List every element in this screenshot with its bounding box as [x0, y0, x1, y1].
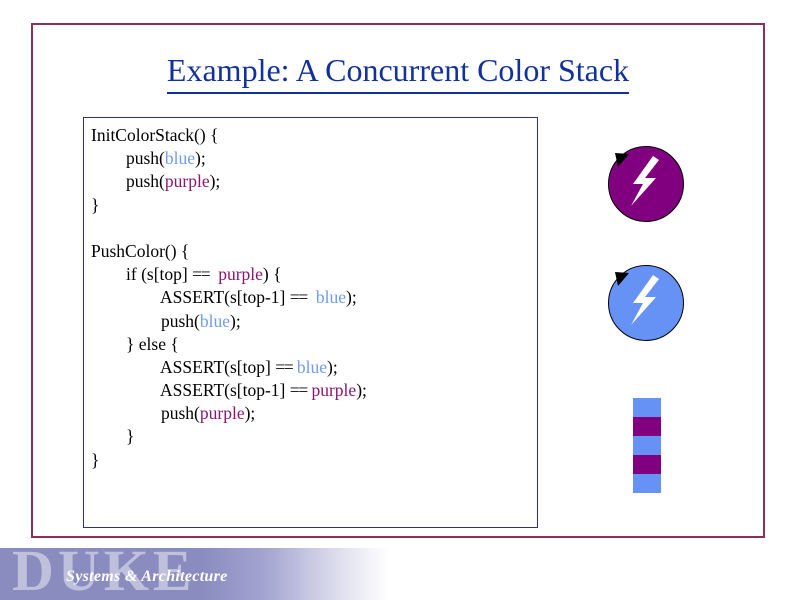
code-token: );: [195, 148, 206, 168]
thread-token-purple[interactable]: [608, 146, 684, 222]
code-line: push(blue);: [91, 310, 537, 333]
code-token: [209, 264, 218, 284]
code-line: ASSERT(s[top-1] == blue);: [91, 286, 537, 309]
code-line: if (s[top] == purple) {: [91, 263, 537, 286]
code-token-blue: blue: [297, 357, 327, 377]
code-line: }: [91, 449, 537, 472]
code-token: push(: [126, 171, 165, 191]
code-token: ASSERT(s[top-1]: [160, 380, 290, 400]
code-token: }: [126, 426, 134, 446]
page-title-text: Example: A Concurrent Color Stack: [167, 52, 629, 94]
code-listing-box: InitColorStack() { push(blue); push(purp…: [83, 117, 538, 528]
code-token: );: [230, 311, 241, 331]
code-token-blue: blue: [200, 311, 230, 331]
footer-tagline: Systems & Architecture: [66, 568, 228, 586]
code-token: );: [346, 287, 357, 307]
code-indent: [91, 264, 126, 284]
code-token: } else {: [126, 334, 179, 354]
color-stack-cell-purple: [633, 417, 661, 436]
rotation-arrow-icon: [615, 272, 629, 286]
code-indent: [91, 287, 160, 307]
code-token-purple: purple: [218, 264, 263, 284]
code-line: push(purple);: [91, 170, 537, 193]
code-indent: [91, 311, 161, 331]
code-line: InitColorStack() {: [91, 124, 537, 147]
rotation-arrow-icon: [615, 153, 629, 167]
code-indent: [91, 357, 160, 377]
code-token-blue: blue: [165, 148, 195, 168]
code-line: PushColor() {: [91, 240, 537, 263]
code-token-purple: purple: [311, 380, 356, 400]
code-line: ASSERT(s[top-1] == purple);: [91, 379, 537, 402]
color-stack-cell-blue: [633, 398, 661, 417]
color-stack-cell-blue: [633, 474, 661, 493]
code-token: ASSERT(s[top]: [160, 357, 275, 377]
code-line: }: [91, 425, 537, 448]
code-token: push(: [161, 403, 200, 423]
code-token: }: [91, 195, 99, 215]
lightning-bolt-icon: [631, 275, 659, 325]
code-token: );: [245, 403, 256, 423]
code-token-equals: ==: [192, 264, 209, 284]
code-token: push(: [161, 311, 200, 331]
code-token: );: [356, 380, 367, 400]
code-token: PushColor() {: [91, 241, 189, 261]
code-line: push(purple);: [91, 402, 537, 425]
code-token: }: [91, 450, 99, 470]
code-token-blue: blue: [316, 287, 346, 307]
code-token: push(: [126, 148, 165, 168]
code-token-equals: ==: [275, 357, 292, 377]
code-token: );: [327, 357, 338, 377]
code-indent: [91, 171, 126, 191]
page-title: Example: A Concurrent Color Stack: [31, 52, 765, 94]
code-line: push(blue);: [91, 147, 537, 170]
code-line: ASSERT(s[top] == blue);: [91, 356, 537, 379]
code-token: );: [210, 171, 221, 191]
code-token-equals: ==: [290, 287, 307, 307]
code-token-purple: purple: [200, 403, 245, 423]
code-token-equals: ==: [290, 380, 307, 400]
color-stack-diagram: [633, 398, 661, 493]
footer-band: DUKE Systems & Architecture: [0, 548, 389, 600]
code-token: [307, 287, 316, 307]
code-indent: [91, 403, 161, 423]
code-indent: [91, 334, 126, 354]
code-token-purple: purple: [165, 171, 210, 191]
code-indent: [91, 148, 126, 168]
thread-token-purple-overlay: [601, 139, 693, 231]
thread-token-blue[interactable]: [608, 265, 684, 341]
code-line: } else {: [91, 333, 537, 356]
color-stack-cell-purple: [633, 455, 661, 474]
code-line: }: [91, 194, 537, 217]
code-line: [91, 217, 537, 240]
code-token: ASSERT(s[top-1]: [160, 287, 290, 307]
code-indent: [91, 426, 126, 446]
color-stack-cell-blue: [633, 436, 661, 455]
thread-token-blue-overlay: [601, 258, 693, 350]
code-token: InitColorStack() {: [91, 125, 218, 145]
code-token: if (s[top]: [126, 264, 192, 284]
code-indent: [91, 380, 160, 400]
code-token: ) {: [263, 264, 282, 284]
lightning-bolt-icon: [631, 156, 659, 206]
